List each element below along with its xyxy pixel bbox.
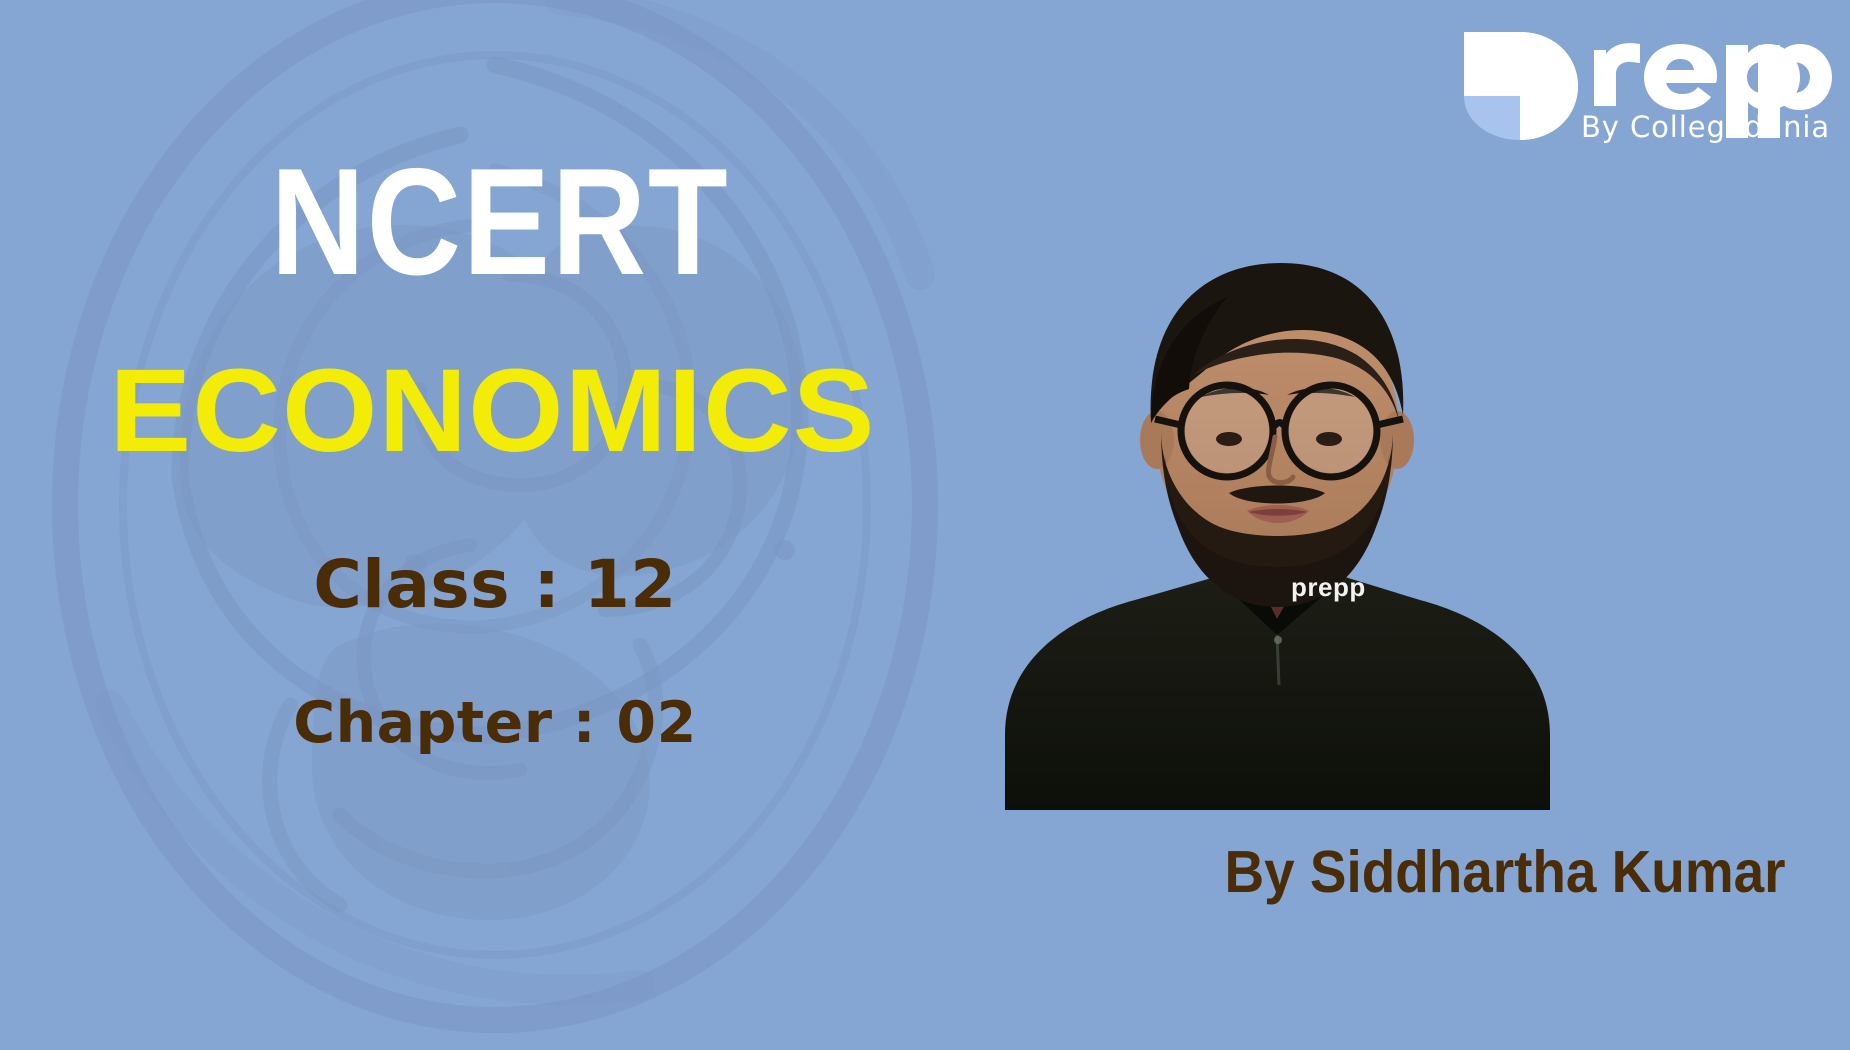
presenter-video-cutout: prepp: [965, 215, 1585, 810]
prepp-logo[interactable]: By Collegedunia: [1462, 14, 1832, 144]
svg-text:prepp: prepp: [1291, 572, 1366, 602]
logo-tagline: By Collegedunia: [1581, 110, 1830, 144]
lecture-title-slide: By Collegedunia NCERT ECONOMICS Class : …: [0, 0, 1850, 1050]
class-label: Class : 12: [0, 546, 990, 623]
chapter-label: Chapter : 02: [0, 690, 990, 756]
page-title-board: NCERT: [70, 146, 930, 298]
presenter-name-label: By Siddhartha Kumar: [1184, 838, 1826, 906]
page-title-subject: ECONOMICS: [0, 352, 1005, 470]
